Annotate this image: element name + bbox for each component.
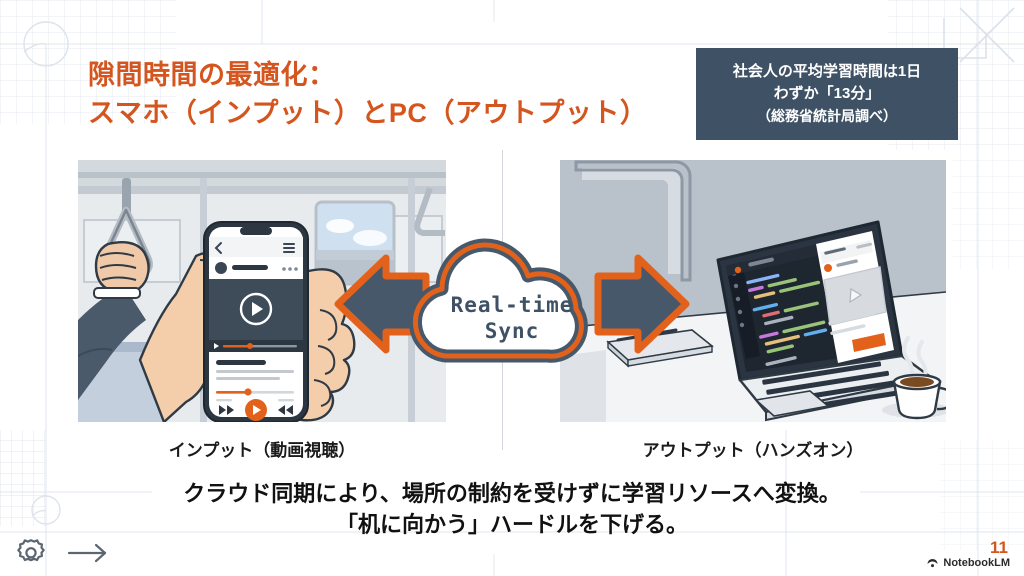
title-line-1: 隙間時間の最適化： xyxy=(88,60,336,90)
caption-output: アウトプット（ハンズオン） xyxy=(560,436,946,461)
page-number: 11 xyxy=(948,538,1008,558)
callout-line-2: わずか「13分」 xyxy=(774,83,881,106)
caption-input: インプット（動画視聴） xyxy=(78,436,446,461)
statistic-callout-box: 社会人の平均学習時間は1日 わずか「13分」 （総務省統計局調べ） xyxy=(696,48,958,140)
title-line-2: スマホ（インプット）とPC（アウトプット） xyxy=(88,94,688,132)
cloud-label-line-1: Real-time xyxy=(451,293,574,317)
notebooklm-branding: NotebookLM xyxy=(926,556,1010,569)
brand-label: NotebookLM xyxy=(943,557,1010,569)
slide-canvas: 隙間時間の最適化： スマホ（インプット）とPC（アウトプット） 社会人の平均学習… xyxy=(0,0,1024,576)
gear-icon[interactable] xyxy=(14,536,48,570)
summary-text: クラウド同期により、場所の制約を受けずに学習リソースへ変換。 「机に向かう」ハー… xyxy=(0,478,1024,540)
callout-line-3: （総務省統計局調べ） xyxy=(757,106,897,127)
summary-line-2: 「机に向かう」ハードルを下げる。 xyxy=(0,509,1024,540)
summary-line-1: クラウド同期により、場所の制約を受けずに学習リソースへ変換。 xyxy=(0,478,1024,509)
cloud-label-line-2: Sync xyxy=(485,319,540,343)
notebooklm-logo-icon xyxy=(926,556,939,569)
slide-title: 隙間時間の最適化： スマホ（インプット）とPC（アウトプット） xyxy=(88,56,688,133)
arrow-right-icon[interactable] xyxy=(66,542,110,564)
callout-line-1: 社会人の平均学習時間は1日 xyxy=(733,61,921,84)
realtime-sync-cloud: Real-time Sync xyxy=(330,228,694,380)
right-arrow-icon xyxy=(598,258,686,350)
